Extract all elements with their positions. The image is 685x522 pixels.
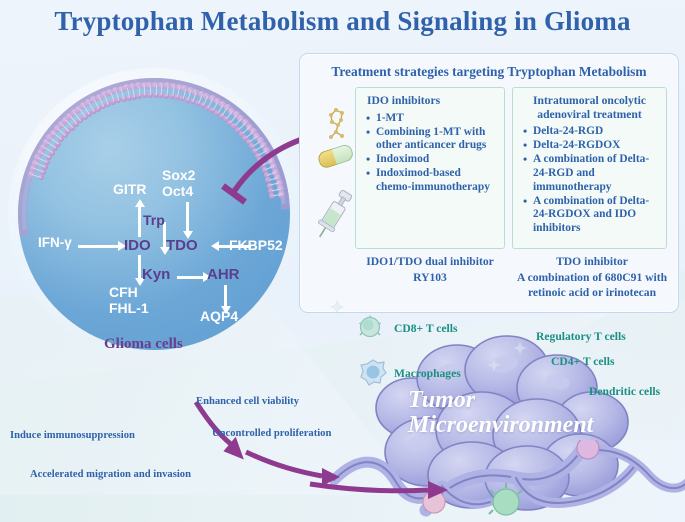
glioma-cells-label: Glioma cells	[104, 336, 183, 353]
legend-label-macrophages: Macrophages	[394, 367, 461, 380]
tcell-icon	[358, 315, 382, 339]
cd4-tcell-icon	[486, 357, 502, 373]
treatment-strategies-panel: Treatment strategies targeting Tryptopha…	[299, 53, 679, 313]
adenoviral-list: Delta-24-RGD Delta-24-RGDOX A combinatio…	[513, 125, 666, 235]
page-title: Tryptophan Metabolism and Signaling in G…	[0, 6, 685, 37]
node-sox2: Sox2	[162, 167, 195, 183]
figure-canvas: Tryptophan Metabolism and Signaling in G…	[0, 0, 685, 522]
node-trp: Trp	[143, 212, 165, 228]
tdo-inhibitor-heading: TDO inhibitor	[512, 254, 672, 270]
ido-inhibitors-box: IDO inhibitors 1-MT Combining 1-MT with …	[355, 87, 505, 249]
node-ahr: AHR	[207, 266, 240, 283]
dual-inhibitor-value: RY103	[346, 270, 514, 286]
adenoviral-treatment-box: Intratumoral oncolytic adenoviral treatm…	[512, 87, 667, 249]
legend-label-treg: Regulatory T cells	[536, 330, 626, 343]
ido-box-heading: IDO inhibitors	[356, 88, 504, 111]
legend-label-dendritic: Dendritic cells	[589, 385, 660, 398]
list-item: A combination of Delta-24-RGDOX and IDO …	[533, 195, 660, 236]
node-gitr: GITR	[113, 181, 146, 197]
panel-title: Treatment strategies targeting Tryptopha…	[300, 64, 678, 80]
outcome-label-migration: Accelerated migration and invasion	[30, 469, 191, 480]
list-item: Indoximod	[376, 153, 498, 167]
dual-inhibitor-heading: IDO1/TDO dual inhibitor	[346, 254, 514, 270]
node-tdo: TDO	[166, 237, 198, 254]
node-fhl1: FHL-1	[109, 300, 149, 316]
list-item: Combining 1-MT with other anticancer dru…	[376, 126, 498, 153]
legend-label-cd8: CD8+ T cells	[394, 322, 458, 335]
adeno-box-heading: Intratumoral oncolytic adenoviral treatm…	[513, 88, 666, 124]
dendritic-cell-icon	[330, 300, 344, 314]
list-item: 1-MT	[376, 112, 498, 126]
syringe-icon	[312, 185, 356, 243]
molecule-icon	[322, 108, 352, 144]
node-ifn-gamma: IFN-γ	[38, 235, 72, 250]
treg-icon	[512, 340, 528, 356]
ido-inhibitors-list: 1-MT Combining 1-MT with other anticance…	[356, 112, 504, 195]
list-item: Delta-24-RGDOX	[533, 139, 660, 153]
list-item: Delta-24-RGD	[533, 125, 660, 139]
node-fkbp52: FKBP52	[229, 237, 283, 253]
dual-inhibitor-footer: IDO1/TDO dual inhibitor RY103	[346, 254, 514, 285]
tdo-inhibitor-footer: TDO inhibitor A combination of 680C91 wi…	[512, 254, 672, 301]
node-kyn: Kyn	[142, 266, 170, 283]
node-ido: IDO	[124, 237, 151, 254]
node-oct4: Oct4	[162, 183, 193, 199]
outcome-label-proliferation: Uncontrolled proliferation	[212, 428, 331, 439]
list-item: Indoximod-based chemo-immunotherapy	[376, 167, 498, 194]
node-aqp4: AQP4	[200, 308, 238, 324]
outcome-label-viability: Enhanced cell viability	[196, 396, 299, 407]
tdo-inhibitor-value: A combination of 680C91 with retinoic ac…	[512, 270, 672, 301]
list-item: A combination of Delta-24-RGD and immuno…	[533, 153, 660, 194]
node-cfh: CFH	[109, 284, 138, 300]
legend-label-cd4: CD4+ T cells	[551, 355, 615, 368]
outcome-label-immunosuppression: Induce immunosuppression	[10, 430, 135, 441]
